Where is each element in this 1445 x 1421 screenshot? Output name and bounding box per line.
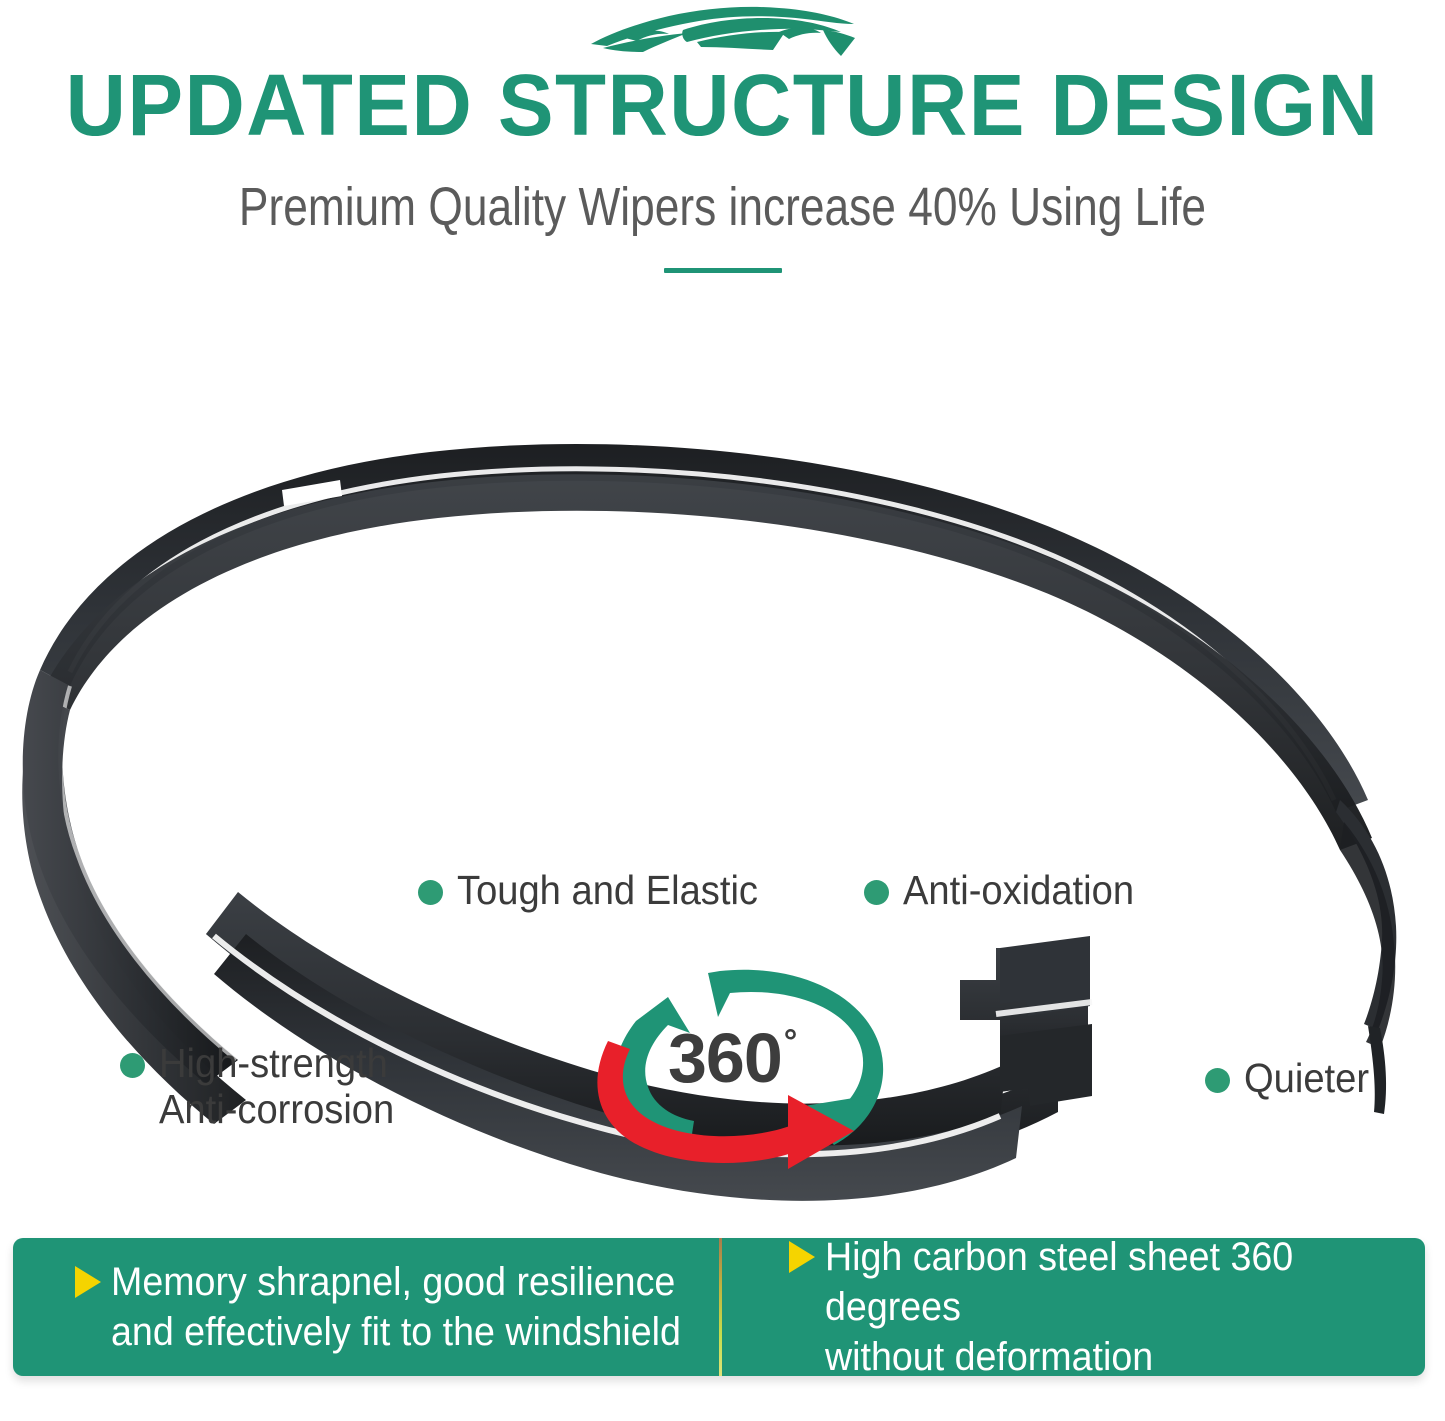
page-subtitle: Premium Quality Wipers increase 40% Usin…: [130, 172, 1315, 242]
banner-item-high-carbon-steel: High carbon steel sheet 360 degrees with…: [719, 1238, 1425, 1376]
feature-label-line1: High-strength: [159, 1040, 388, 1086]
feature-label: Quieter: [1244, 1055, 1369, 1101]
bullet-dot-icon: [120, 1053, 145, 1078]
car-silhouette-icon: [573, 2, 873, 60]
badge-value: 360°: [668, 1023, 794, 1093]
banner-item-text: Memory shrapnel, good resilience and eff…: [111, 1257, 681, 1357]
banner-item-text: High carbon steel sheet 360 degrees with…: [825, 1232, 1389, 1382]
product-image-area: 360° Tough and Elastic Anti-oxidation Hi…: [0, 300, 1445, 1230]
feature-label-multiline: High-strengthAnti-corrosion: [159, 1040, 394, 1132]
header-section: UPDATED STRUCTURE DESIGN Premium Quality…: [0, 0, 1445, 300]
badge-number: 360: [668, 1019, 782, 1097]
bullet-dot-icon: [864, 880, 889, 905]
feature-label-line2: Anti-corrosion: [159, 1086, 394, 1132]
bullet-dot-icon: [418, 880, 443, 905]
play-triangle-icon: [789, 1241, 815, 1273]
play-triangle-icon: [75, 1266, 101, 1298]
bullet-dot-icon: [1205, 1068, 1230, 1093]
feature-high-strength-anti-corrosion: High-strengthAnti-corrosion: [120, 1040, 412, 1132]
title-underline-divider: [664, 268, 782, 273]
page-title: UPDATED STRUCTURE DESIGN: [29, 58, 1416, 154]
banner-item-memory-shrapnel: Memory shrapnel, good resilience and eff…: [13, 1238, 719, 1376]
feature-tough-and-elastic: Tough and Elastic: [418, 867, 781, 913]
degree-symbol: °: [784, 1023, 797, 1061]
bottom-feature-banner: Memory shrapnel, good resilience and eff…: [13, 1238, 1425, 1376]
feature-label: Anti-oxidation: [903, 867, 1134, 913]
feature-quieter: Quieter: [1205, 1055, 1378, 1101]
feature-label: Tough and Elastic: [457, 867, 758, 913]
feature-anti-oxidation: Anti-oxidation: [864, 867, 1151, 913]
360-degree-badge: 360°: [572, 955, 917, 1170]
